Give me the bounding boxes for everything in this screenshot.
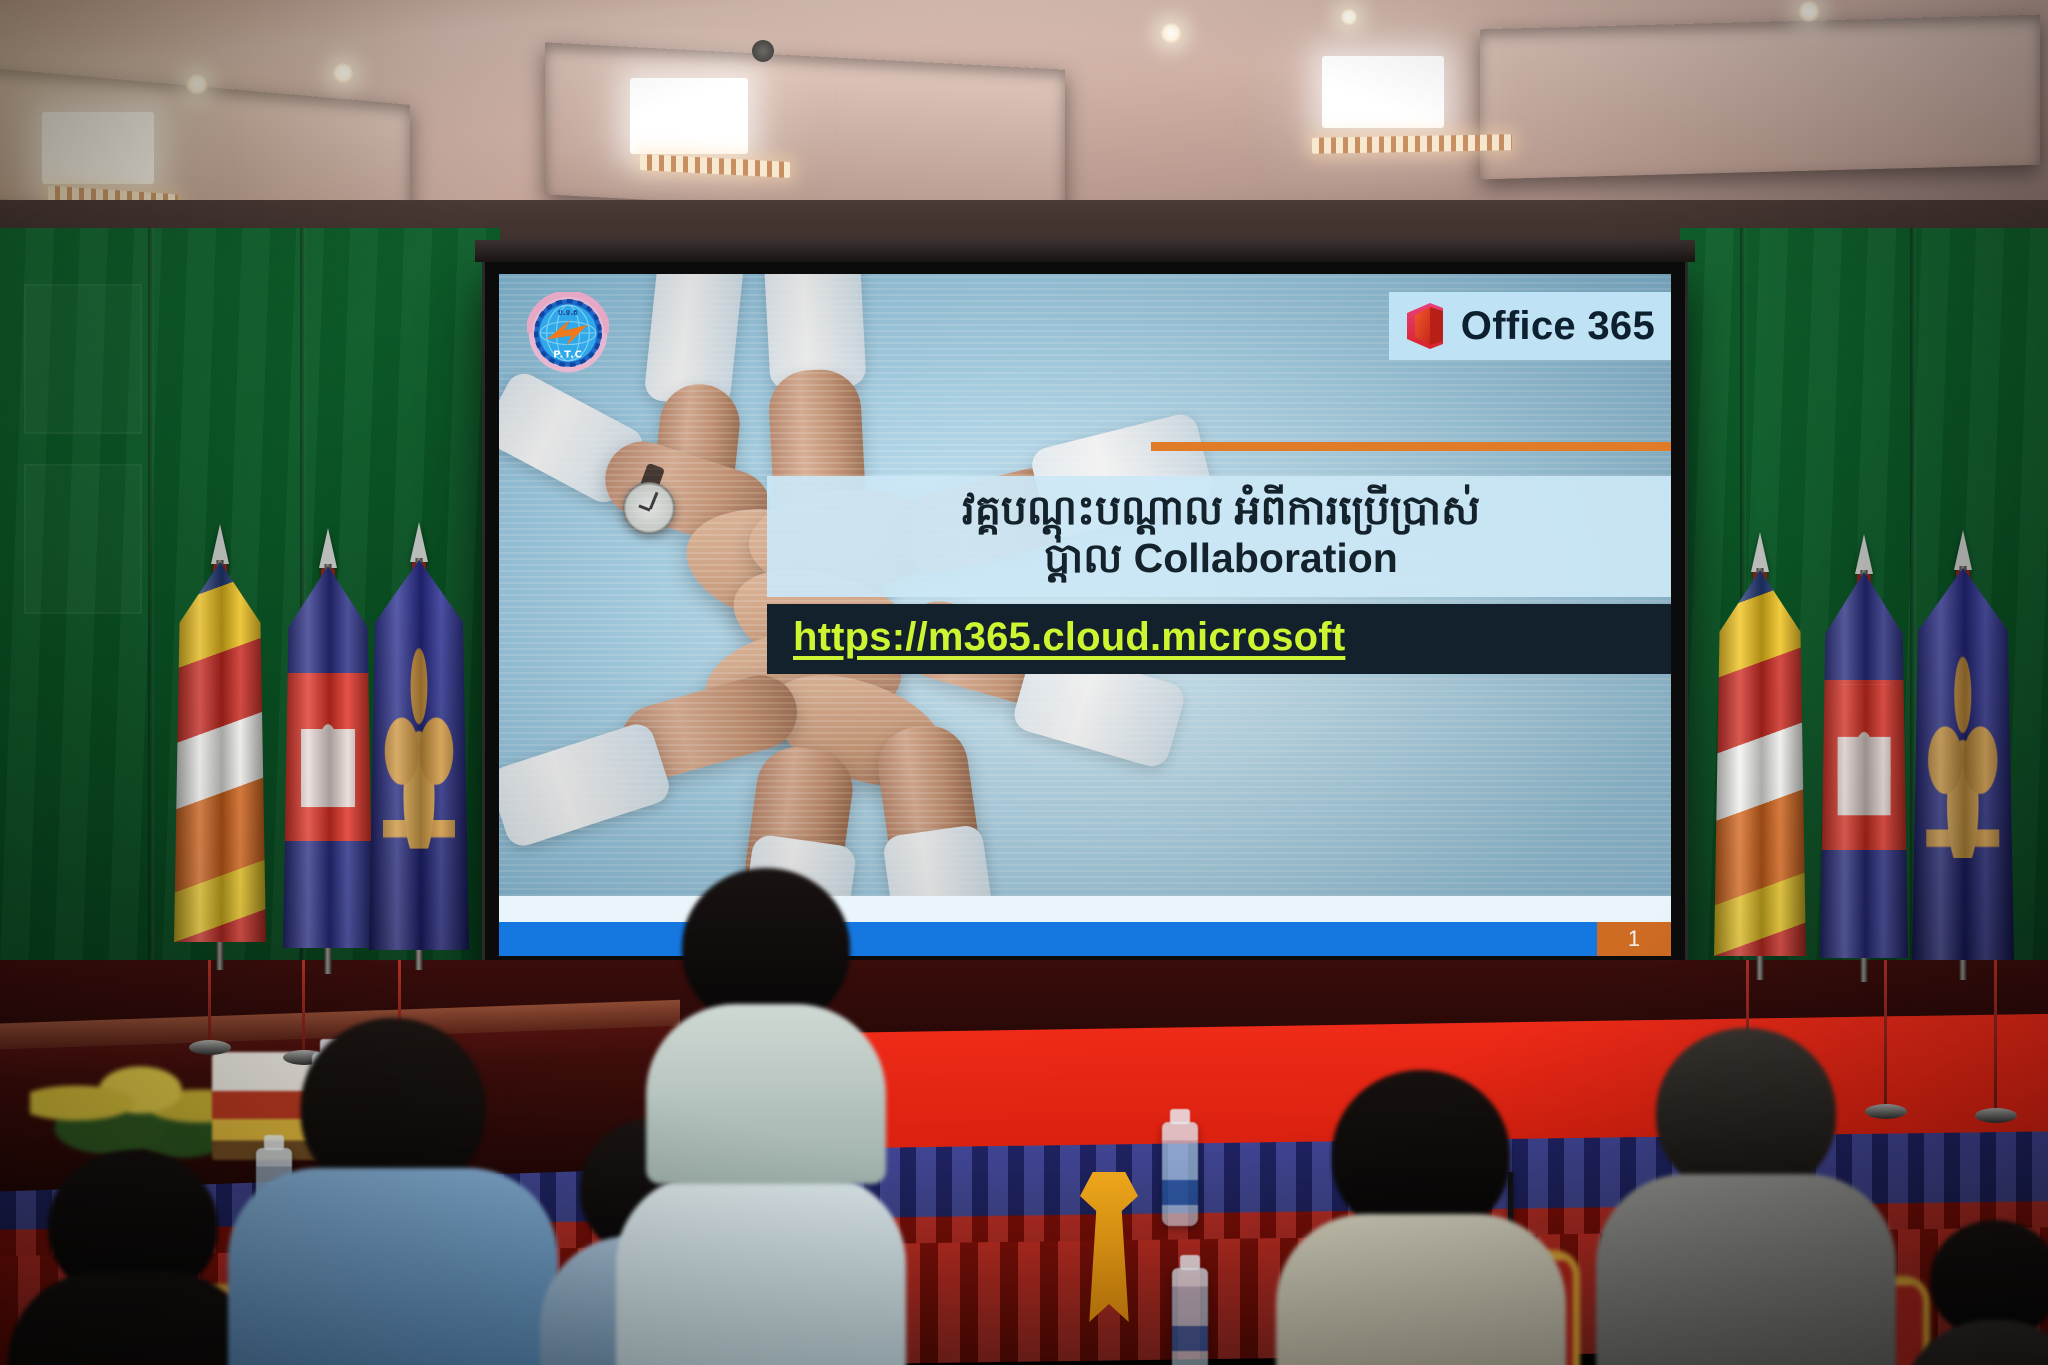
ceiling-recess-right (1480, 15, 2040, 180)
wall-decor-panel (24, 464, 142, 614)
slide-url-band: https://m365.cloud.microsoft (767, 604, 1671, 674)
buddhist-flag (1700, 508, 1820, 978)
flag-cloth (1820, 572, 1908, 958)
flag-cloth (369, 560, 469, 950)
ceiling-panel-light-1 (42, 112, 154, 184)
audience-member (1276, 1070, 1566, 1365)
royal-standard-flag (1898, 508, 2028, 978)
ptc-logo-icon: ប.ទ.គ P.T.C (527, 292, 609, 374)
office365-brand: Office 365 (1389, 292, 1671, 360)
conference-hall-scene: ប.ទ.គ P.T.C (0, 0, 2048, 1365)
slide-page-number: 1 (1597, 922, 1671, 956)
buddhist-flag (160, 500, 280, 970)
office365-logo-icon (1403, 301, 1447, 351)
flag-finial-icon (211, 524, 229, 564)
flag-finial-icon (1751, 532, 1769, 572)
ceiling-downlight-1 (186, 73, 208, 95)
water-bottle (1162, 1122, 1198, 1226)
ceiling-strip-light-2 (640, 154, 790, 178)
wristwatch-icon (623, 482, 675, 534)
flag-finial-icon (319, 528, 337, 568)
flag-finial-icon (410, 522, 428, 562)
audience-member (8, 1150, 258, 1365)
ceiling (0, 0, 2048, 210)
ceiling-panel-light-2 (630, 78, 748, 154)
presentation-screen[interactable]: ប.ទ.គ P.T.C (485, 262, 1685, 968)
svg-text:P.T.C: P.T.C (553, 350, 582, 361)
wall-decor-panel (24, 284, 142, 434)
ceiling-downlight-2 (332, 62, 354, 84)
hanging-microphone (208, 960, 211, 1046)
ceiling-panel-light-3 (1322, 56, 1444, 128)
slide-url-link[interactable]: https://m365.cloud.microsoft (793, 615, 1653, 660)
flag-finial-icon (1855, 534, 1873, 574)
slide-accent-rule (1151, 442, 1671, 451)
flag-cloth (1714, 570, 1806, 956)
water-bottle (1172, 1268, 1208, 1365)
slide-title-line-2: ប្ដាល Collaboration (789, 534, 1653, 582)
audience-member (228, 1018, 558, 1365)
slide-title-band: វគ្គបណ្ដុះបណ្ដាល អំពីការប្រើប្រាស់ ប្ដាល… (767, 476, 1671, 597)
flag-group-left (150, 500, 450, 970)
hanging-microphone (1994, 960, 1997, 1114)
ceiling-strip-light-3 (1312, 134, 1512, 153)
ceiling-recess-center (545, 42, 1065, 221)
ceiling-downlight-3 (752, 40, 774, 62)
flag-finial-icon (1954, 530, 1972, 570)
flag-cloth (1912, 568, 2014, 960)
flag-group-right (1700, 508, 2030, 978)
flag-cloth (174, 562, 266, 942)
ceiling-downlight-5 (1340, 8, 1358, 26)
svg-text:ប.ទ.គ: ប.ទ.គ (558, 308, 578, 317)
ceiling-downlight-4 (1160, 22, 1182, 44)
ceiling-downlight-6 (1798, 0, 1820, 22)
office365-label: Office 365 (1461, 304, 1655, 349)
audience-member (1596, 1028, 1896, 1365)
slide-content: ប.ទ.គ P.T.C (499, 274, 1671, 956)
slide-title-line-1: វគ្គបណ្ដុះបណ្ដាល អំពីការប្រើប្រាស់ (789, 486, 1653, 534)
audience-member (1900, 1220, 2048, 1365)
royal-standard-flag (354, 500, 484, 970)
audience-member (646, 868, 886, 1168)
